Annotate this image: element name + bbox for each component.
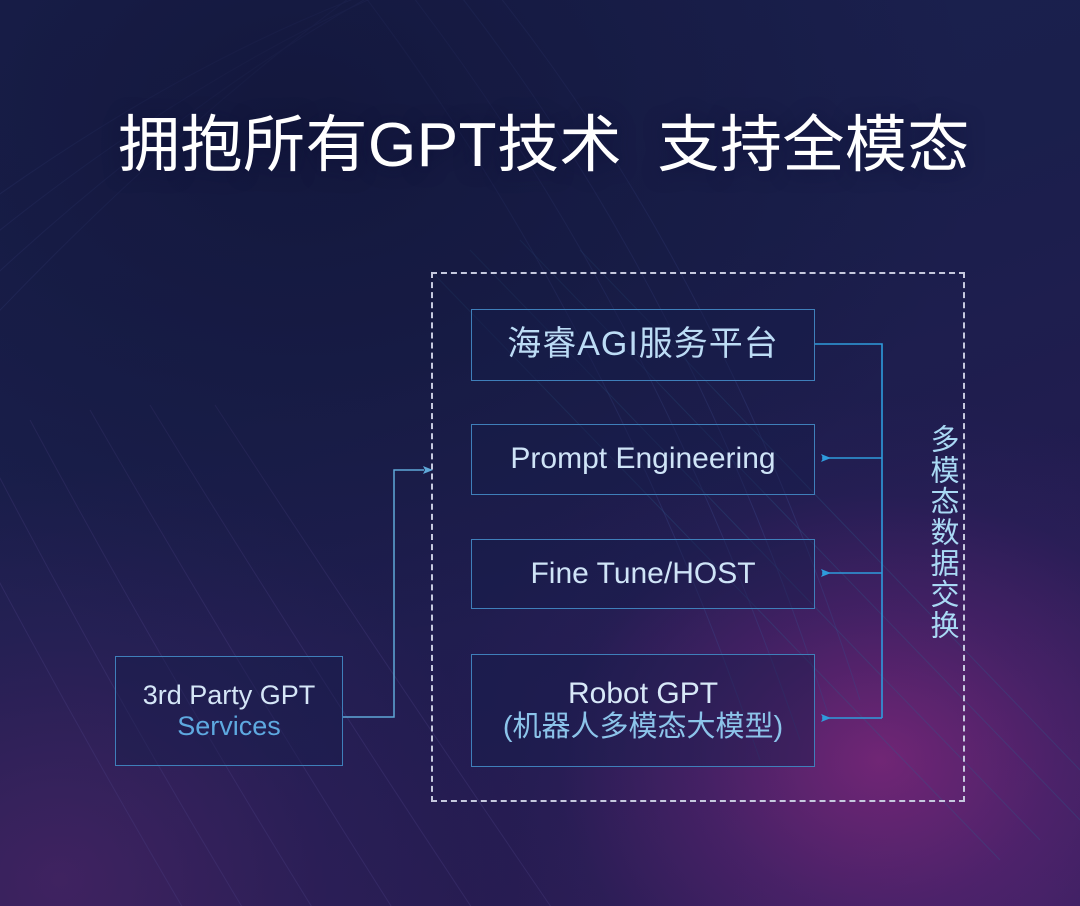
box-fine-tune-host[interactable]: Fine Tune/HOST <box>471 539 815 609</box>
slide-canvas: 拥抱所有GPT技术 支持全模态 海睿AGI服务平台 <box>0 0 1080 906</box>
box-agi-platform-label: 海睿AGI服务平台 <box>507 325 779 364</box>
box-fine-tune-host-label: Fine Tune/HOST <box>530 557 755 592</box>
box-robot-gpt[interactable]: Robot GPT (机器人多模态大模型) <box>471 654 815 767</box>
box-prompt-engineering[interactable]: Prompt Engineering <box>471 424 815 495</box>
vertical-label-data-exchange: 多模态数据交换 <box>917 424 957 641</box>
box-prompt-engineering-label: Prompt Engineering <box>510 442 775 477</box>
page-title: 拥抱所有GPT技术 支持全模态 <box>118 113 970 179</box>
box-agi-platform[interactable]: 海睿AGI服务平台 <box>471 309 815 381</box>
box-robot-gpt-label: Robot GPT <box>568 677 718 712</box>
box-third-party-gpt-sublabel: Services <box>177 711 281 742</box>
box-robot-gpt-sublabel: (机器人多模态大模型) <box>503 711 783 744</box>
box-third-party-gpt[interactable]: 3rd Party GPT Services <box>115 656 343 766</box>
box-third-party-gpt-label: 3rd Party GPT <box>143 680 316 711</box>
